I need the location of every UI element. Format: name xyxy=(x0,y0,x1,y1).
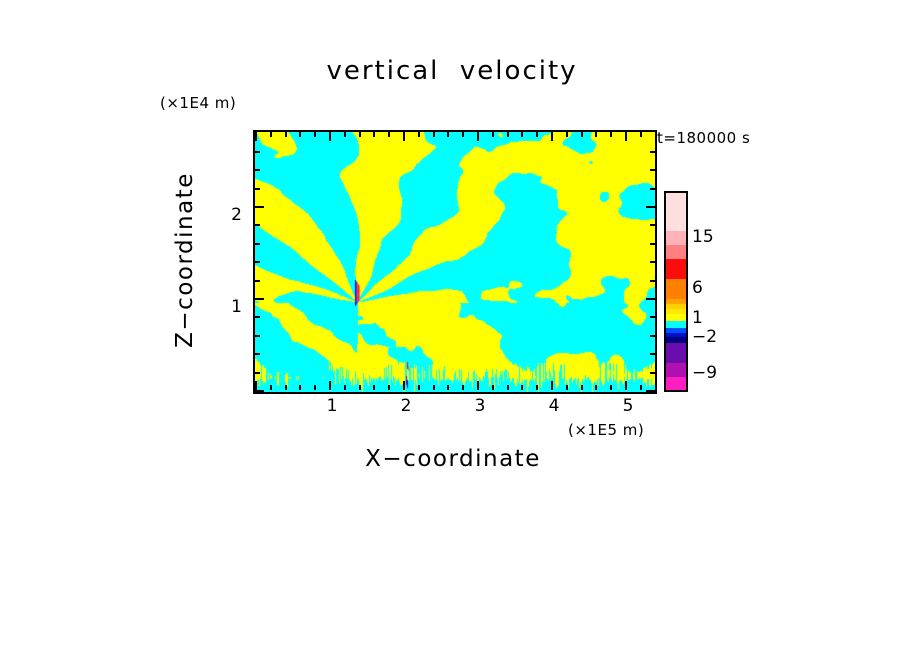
tick-mark xyxy=(507,132,509,137)
tick-mark xyxy=(255,390,264,392)
tick-mark xyxy=(462,132,464,137)
tick-mark xyxy=(388,132,390,137)
tick-mark xyxy=(650,335,655,337)
tick-mark xyxy=(640,132,642,137)
tick-mark xyxy=(418,385,420,390)
tick-mark xyxy=(255,372,260,374)
tick-mark xyxy=(521,385,523,390)
colorbar-band xyxy=(666,377,686,390)
tick-mark xyxy=(477,132,479,141)
vertical-velocity-heatmap xyxy=(255,132,655,392)
tick-mark xyxy=(646,206,655,208)
tick-mark xyxy=(536,385,538,390)
tick-mark xyxy=(270,385,272,390)
colorbar-band xyxy=(666,343,686,363)
tick-mark xyxy=(462,385,464,390)
tick-mark xyxy=(551,132,553,141)
tick-mark xyxy=(299,132,301,137)
x-tick-label: 2 xyxy=(386,396,426,416)
x-tick-label: 3 xyxy=(460,396,500,416)
tick-mark xyxy=(373,132,375,137)
y-tick-label: 1 xyxy=(202,297,242,317)
tick-mark xyxy=(551,381,553,390)
x-tick-label: 1 xyxy=(312,396,352,416)
tick-mark xyxy=(521,132,523,137)
tick-mark xyxy=(255,353,260,355)
tick-mark xyxy=(477,381,479,390)
tick-mark xyxy=(359,385,361,390)
colorbar-band xyxy=(666,314,686,321)
tick-mark xyxy=(270,132,272,137)
tick-mark xyxy=(373,385,375,390)
tick-mark xyxy=(536,132,538,137)
page-title: vertical velocity xyxy=(0,56,904,86)
tick-mark xyxy=(581,385,583,390)
tick-mark xyxy=(255,298,264,300)
tick-mark xyxy=(299,385,301,390)
tick-mark xyxy=(285,385,287,390)
colorbar-tick-label: 6 xyxy=(692,278,703,298)
x-tick-label: 5 xyxy=(608,396,648,416)
tick-mark xyxy=(595,132,597,137)
tick-mark xyxy=(646,390,655,392)
tick-mark xyxy=(329,381,331,390)
tick-mark xyxy=(507,385,509,390)
tick-mark xyxy=(650,224,655,226)
tick-mark xyxy=(650,151,655,153)
tick-mark xyxy=(650,243,655,245)
tick-mark xyxy=(403,381,405,390)
x-axis-unit-label: (×1E5 m) xyxy=(568,421,644,439)
tick-mark xyxy=(255,206,264,208)
x-tick-label: 4 xyxy=(534,396,574,416)
tick-mark xyxy=(492,132,494,137)
tick-mark xyxy=(403,132,405,141)
tick-mark xyxy=(255,335,260,337)
tick-mark xyxy=(595,385,597,390)
colorbar xyxy=(664,191,688,392)
tick-mark xyxy=(650,188,655,190)
y-axis-unit-label: (×1E4 m) xyxy=(160,94,236,112)
tick-mark xyxy=(650,169,655,171)
tick-mark xyxy=(255,381,257,390)
tick-mark xyxy=(566,132,568,137)
colorbar-band xyxy=(666,390,686,392)
tick-mark xyxy=(314,132,316,137)
colorbar-tick-label: −2 xyxy=(692,327,717,347)
tick-mark xyxy=(492,385,494,390)
tick-mark xyxy=(650,280,655,282)
tick-mark xyxy=(646,298,655,300)
tick-mark xyxy=(388,385,390,390)
tick-mark xyxy=(418,132,420,137)
tick-mark xyxy=(433,385,435,390)
colorbar-tick-label: −9 xyxy=(692,363,717,383)
colorbar-band xyxy=(666,363,686,377)
tick-mark xyxy=(314,385,316,390)
colorbar-band xyxy=(666,279,686,299)
time-annotation: t=180000 s xyxy=(657,129,750,147)
tick-mark xyxy=(640,385,642,390)
tick-mark xyxy=(650,316,655,318)
tick-mark xyxy=(625,381,627,390)
tick-mark xyxy=(650,261,655,263)
tick-mark xyxy=(255,261,260,263)
tick-mark xyxy=(581,132,583,137)
tick-mark xyxy=(255,132,257,141)
y-tick-label: 2 xyxy=(202,205,242,225)
tick-mark xyxy=(329,132,331,141)
y-axis-title: Z−coordinate xyxy=(172,172,198,348)
tick-mark xyxy=(447,385,449,390)
colorbar-tick-label: 1 xyxy=(692,308,703,328)
tick-mark xyxy=(566,385,568,390)
colorbar-band xyxy=(666,231,686,245)
tick-mark xyxy=(610,385,612,390)
tick-mark xyxy=(344,132,346,137)
tick-mark xyxy=(650,372,655,374)
tick-mark xyxy=(255,224,260,226)
tick-mark xyxy=(447,132,449,137)
tick-mark xyxy=(255,151,260,153)
colorbar-band xyxy=(666,245,686,259)
colorbar-band xyxy=(666,259,686,279)
tick-mark xyxy=(625,132,627,141)
tick-mark xyxy=(359,132,361,137)
tick-mark xyxy=(344,385,346,390)
tick-mark xyxy=(433,132,435,137)
tick-mark xyxy=(610,132,612,137)
tick-mark xyxy=(285,132,287,137)
tick-mark xyxy=(255,280,260,282)
x-axis-title: X−coordinate xyxy=(253,446,653,472)
plot-area xyxy=(253,130,657,394)
tick-mark xyxy=(255,243,260,245)
colorbar-band xyxy=(666,321,686,328)
colorbar-band xyxy=(666,193,686,231)
tick-mark xyxy=(650,353,655,355)
tick-mark xyxy=(255,169,260,171)
tick-mark xyxy=(255,316,260,318)
colorbar-tick-label: 15 xyxy=(692,227,714,247)
tick-mark xyxy=(255,188,260,190)
